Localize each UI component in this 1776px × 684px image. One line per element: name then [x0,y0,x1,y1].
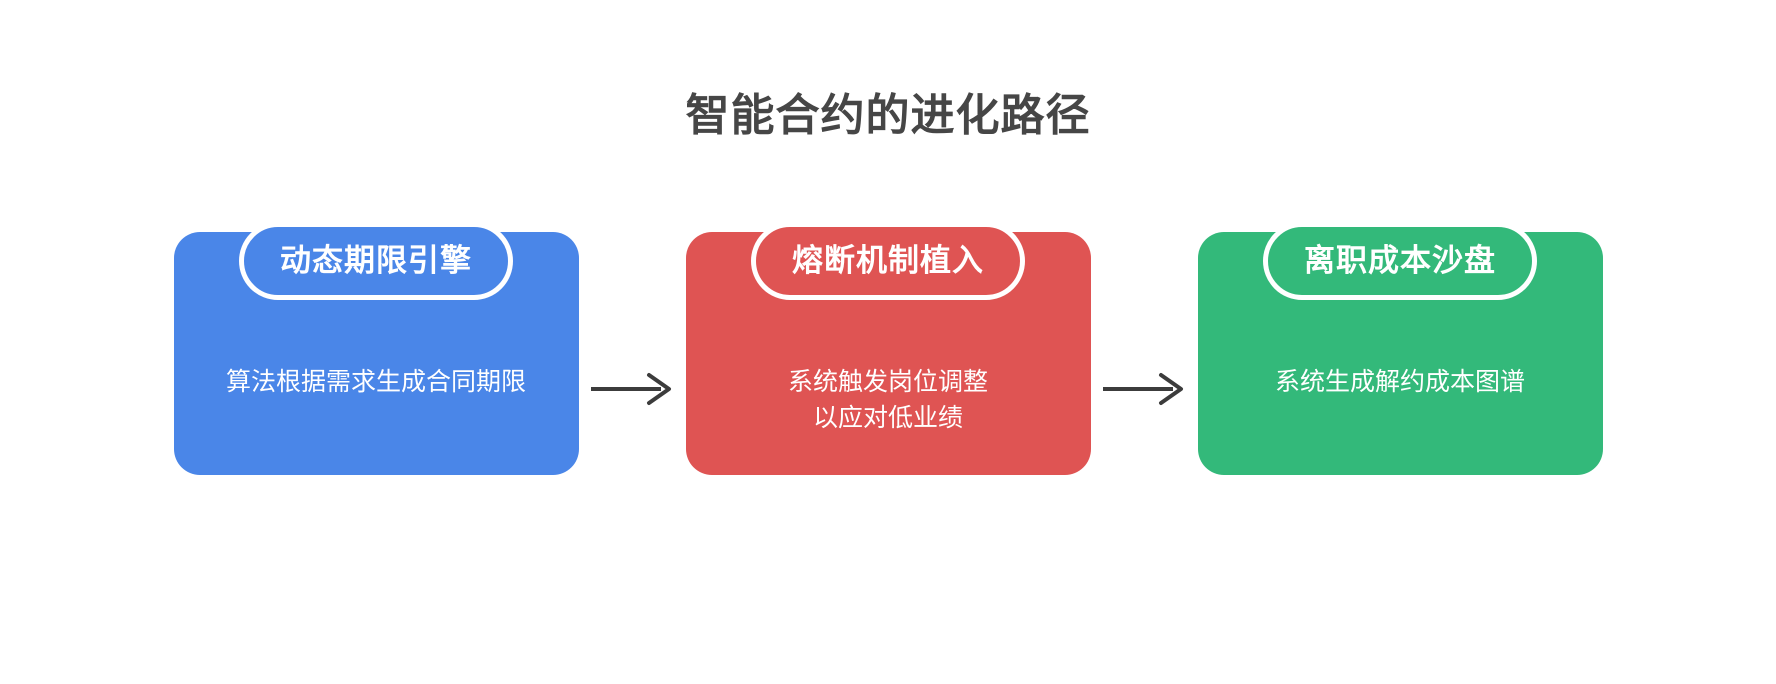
stage-body-2: 系统触发岗位调整 以应对低业绩 [686,336,1091,475]
arrow-right-icon [1101,372,1191,406]
flow-row: 动态期限引擎 算法根据需求生成合同期限 熔断机制植入 系统触发岗位调整 以应对低… [0,232,1776,482]
stage-card-circuit-breaker[interactable]: 熔断机制植入 系统触发岗位调整 以应对低业绩 [686,232,1091,475]
stage-description-1: 算法根据需求生成合同期限 [226,364,526,400]
page-title: 智能合约的进化路径 [0,88,1776,144]
stage-description-3: 系统生成解约成本图谱 [1275,364,1525,400]
stage-description-2: 系统触发岗位调整 以应对低业绩 [788,364,988,436]
arrow-right-icon [589,372,679,406]
stage-title-3: 离职成本沙盘 [1304,241,1496,281]
connector-1 [579,232,686,475]
stage-header-pill-3: 离职成本沙盘 [1263,222,1537,300]
stage-body-3: 系统生成解约成本图谱 [1198,336,1603,475]
stage-card-dynamic-term-engine[interactable]: 动态期限引擎 算法根据需求生成合同期限 [174,232,579,475]
connector-2 [1091,232,1198,475]
stage-body-1: 算法根据需求生成合同期限 [174,336,579,475]
stage-header-pill-1: 动态期限引擎 [239,222,513,300]
stage-title-1: 动态期限引擎 [280,241,472,281]
stage-card-exit-cost-sandbox[interactable]: 离职成本沙盘 系统生成解约成本图谱 [1198,232,1603,475]
stage-header-pill-2: 熔断机制植入 [751,222,1025,300]
diagram-canvas: 智能合约的进化路径 动态期限引擎 算法根据需求生成合同期限 熔断机制植入 系统触 [0,0,1776,684]
stage-title-2: 熔断机制植入 [792,241,984,281]
